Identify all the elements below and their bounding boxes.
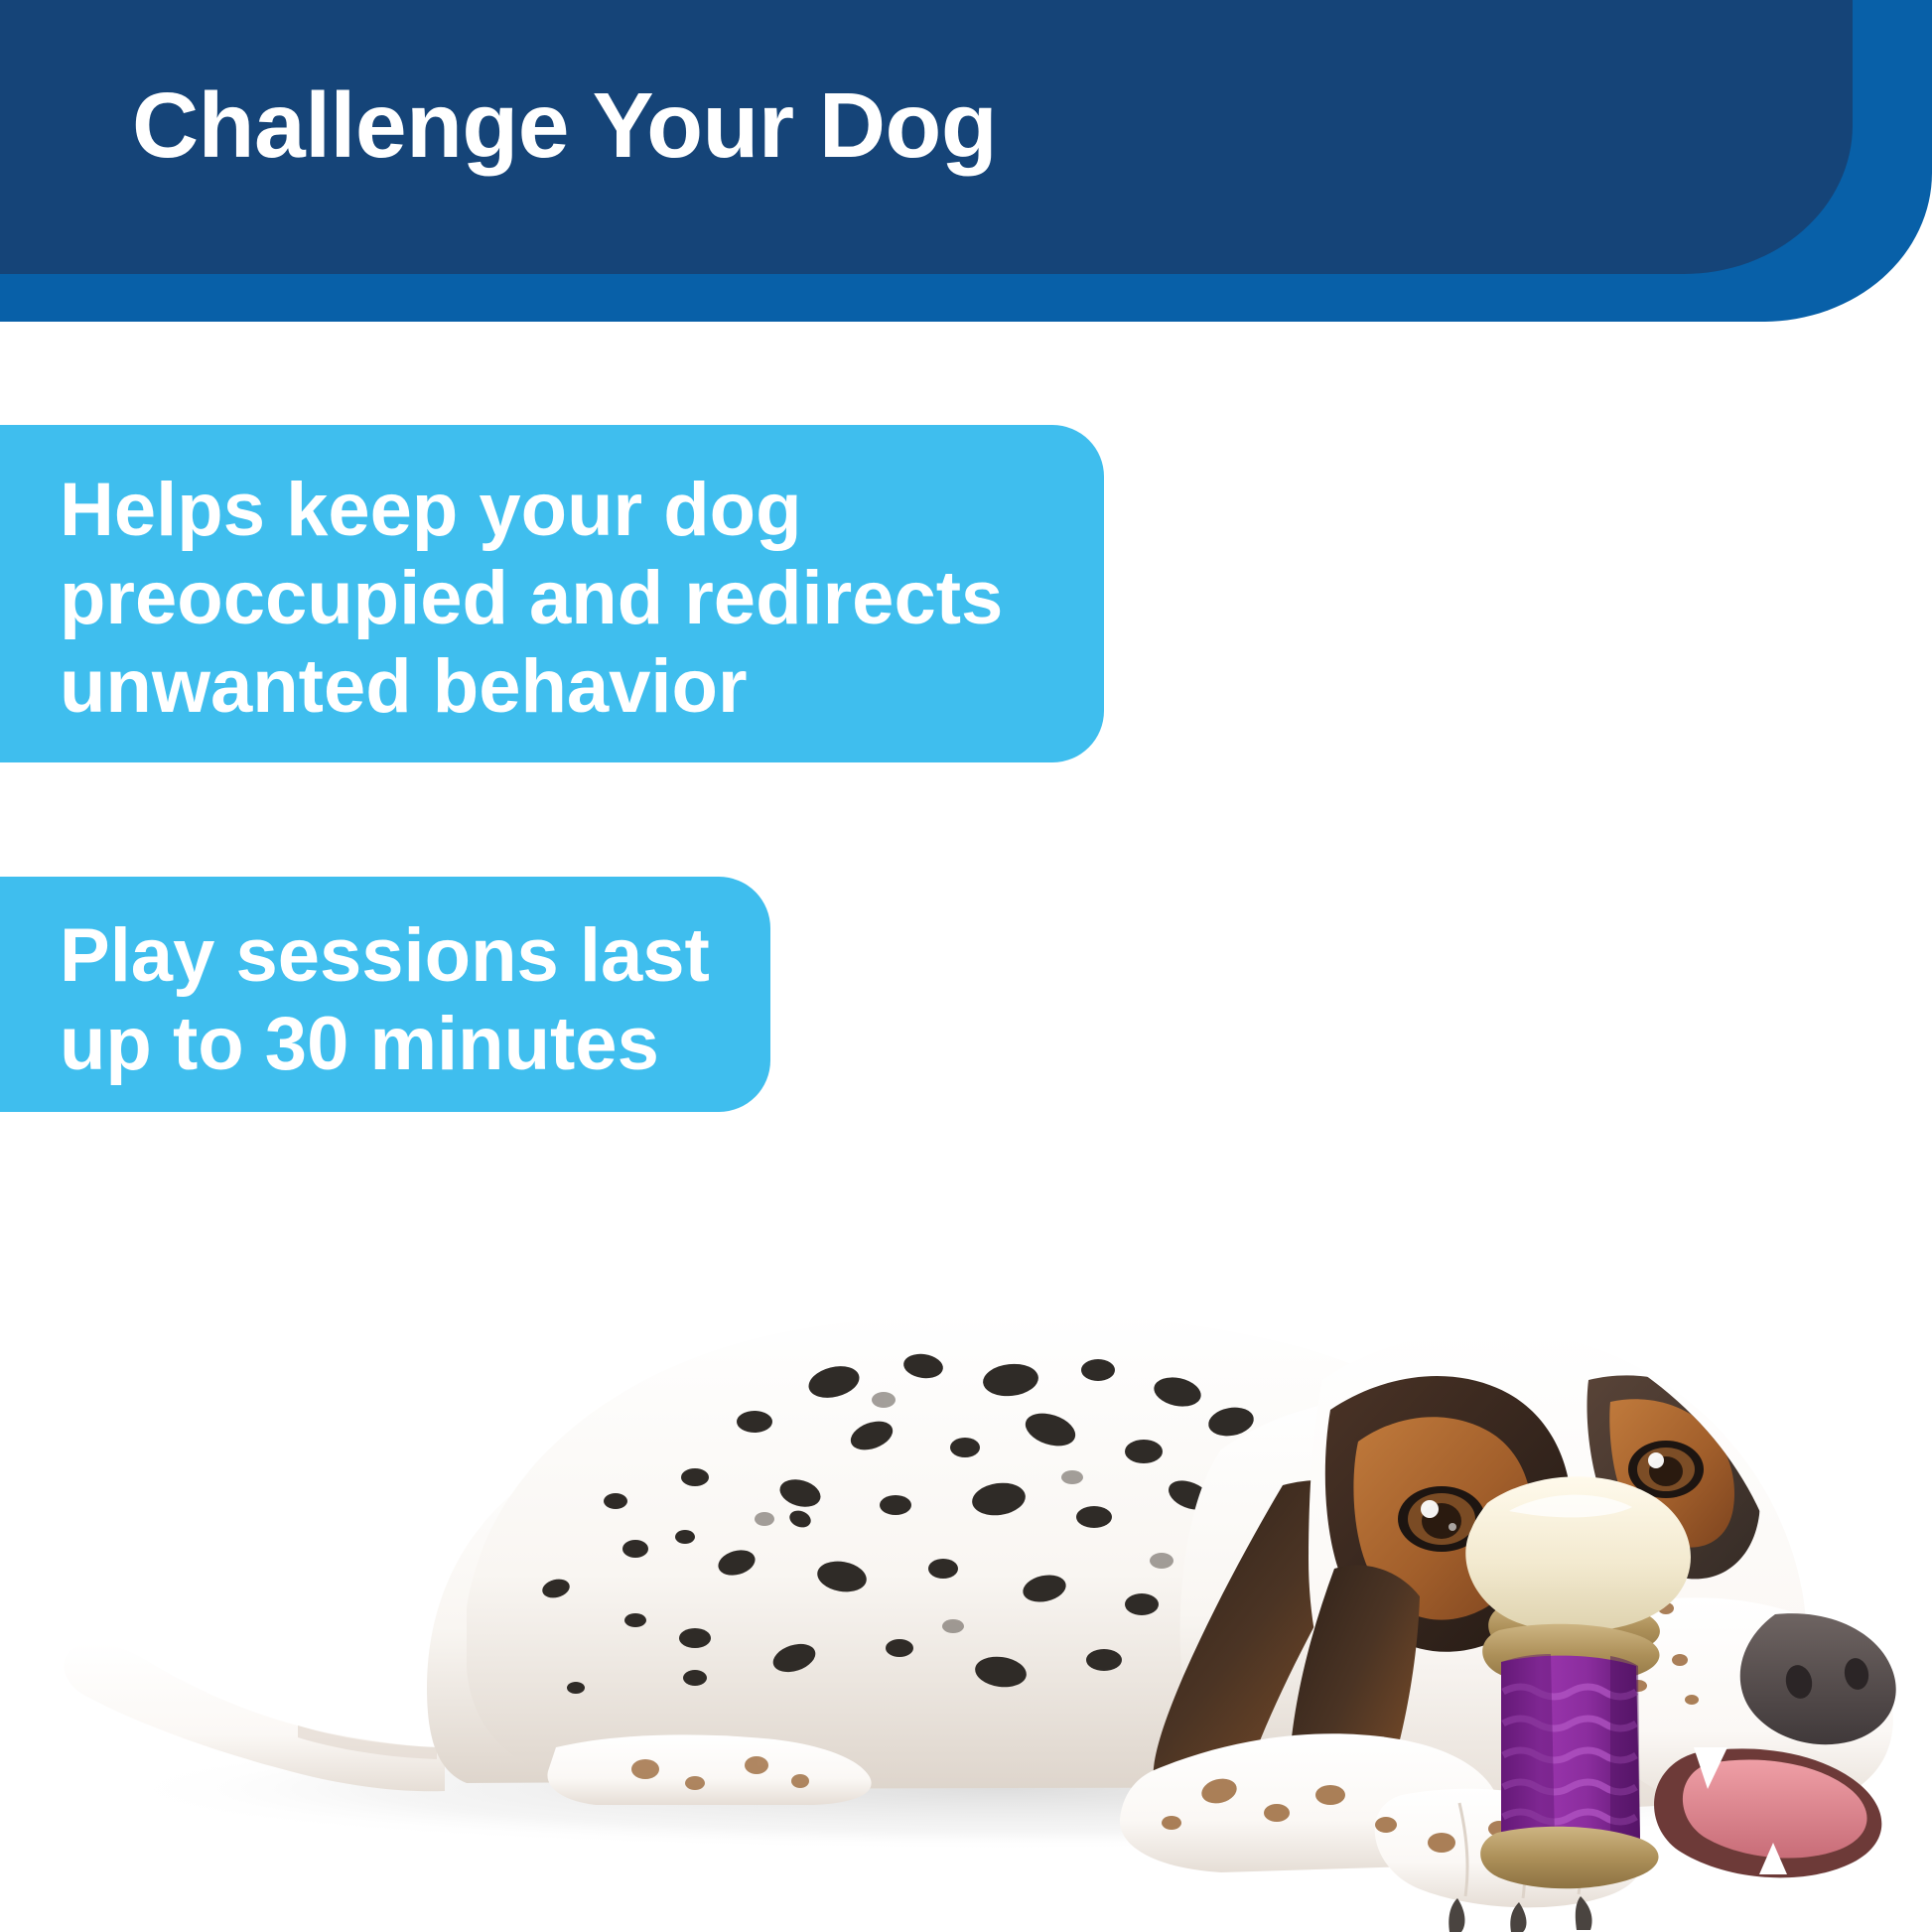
toy-barrel-shade-right	[1610, 1656, 1640, 1845]
product-feature-card: Challenge Your Dog Helps keep your dog p…	[0, 0, 1932, 1932]
feature-callout-1: Helps keep your dog preoccupied and redi…	[0, 425, 1104, 762]
page-title: Challenge Your Dog	[132, 77, 997, 175]
feature-callout-1-text: Helps keep your dog preoccupied and redi…	[60, 467, 1064, 732]
dog-photo-illustration	[0, 1052, 1932, 1932]
toy-barrel-shade-left	[1501, 1654, 1555, 1839]
dog-product-photo	[0, 1052, 1932, 1932]
